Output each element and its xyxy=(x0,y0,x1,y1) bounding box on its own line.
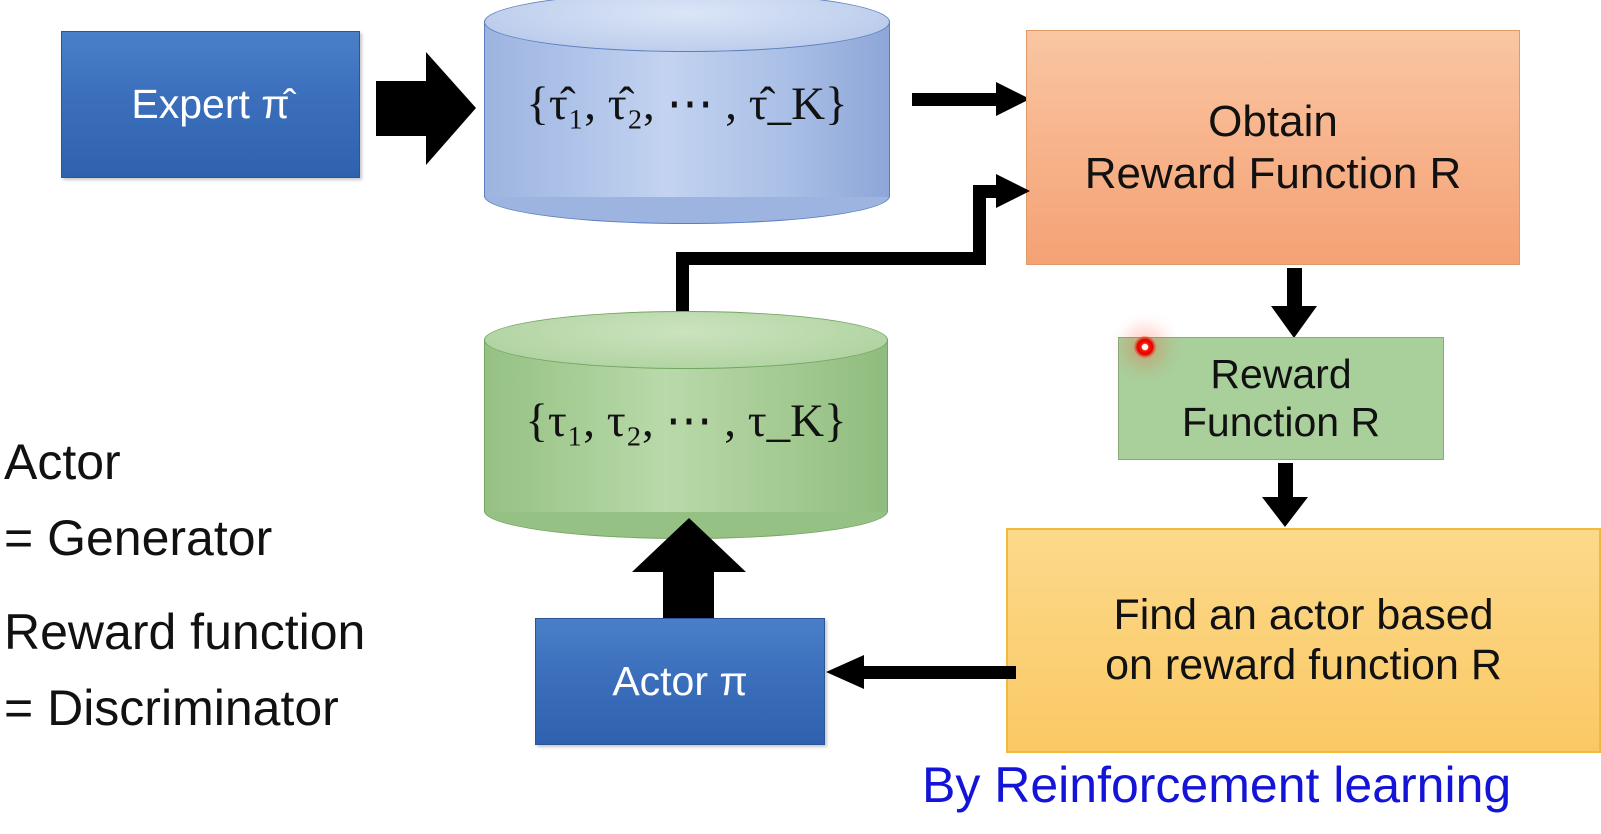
node-obtain-reward-function[interactable]: Obtain Reward Function R xyxy=(1026,30,1520,265)
node-actor-trajectories-label: {τ₁, τ₂, ⋯ , τ_K} xyxy=(484,393,888,448)
red-pointer-dot xyxy=(1134,336,1156,358)
arrow-actor-to-actor-trajectories xyxy=(632,518,746,622)
arrow-expert-to-expert-trajectories xyxy=(376,52,476,165)
node-expert[interactable]: Expert π̂ xyxy=(61,31,360,178)
arrow-obtain-reward-to-reward-function xyxy=(1271,268,1317,338)
node-expert-trajectories-label: {τ̂₁, τ̂₂, ⋯ , τ̂_K} xyxy=(484,76,890,131)
node-actor-label: Actor π xyxy=(612,658,747,706)
legend-line-2: Reward function xyxy=(4,607,365,657)
node-find-actor-line2: on reward function R xyxy=(1105,641,1502,691)
caption-by-reinforcement-learning: By Reinforcement learning xyxy=(922,756,1511,814)
node-reward-function-line1: Reward xyxy=(1210,351,1351,399)
legend-text: Actor = Generator Reward function = Disc… xyxy=(4,437,365,733)
node-actor[interactable]: Actor π xyxy=(535,618,825,745)
node-obtain-reward-line1: Obtain xyxy=(1208,96,1338,147)
node-actor-trajectories[interactable]: {τ₁, τ₂, ⋯ , τ_K} xyxy=(484,311,888,539)
node-reward-function[interactable]: Reward Function R xyxy=(1118,337,1444,460)
node-expert-label: Expert π̂ xyxy=(131,81,289,129)
legend-line-1: = Generator xyxy=(4,513,365,563)
legend-line-3: = Discriminator xyxy=(4,683,365,733)
node-find-actor-line1: Find an actor based xyxy=(1113,591,1493,641)
node-find-actor[interactable]: Find an actor based on reward function R xyxy=(1006,528,1601,753)
arrow-reward-function-to-find-actor xyxy=(1262,463,1308,527)
diagram-canvas: Expert π̂ {τ̂₁, τ̂₂, ⋯ , τ̂_K} Obtain Re… xyxy=(0,0,1601,834)
node-obtain-reward-line2: Reward Function R xyxy=(1085,148,1462,199)
legend-line-0: Actor xyxy=(4,437,365,487)
cylinder-top-cap xyxy=(484,311,888,369)
arrow-find-actor-to-actor xyxy=(826,655,1016,689)
arrow-expert-trajectories-to-obtain-reward xyxy=(912,82,1030,116)
node-reward-function-line2: Function R xyxy=(1182,399,1380,447)
